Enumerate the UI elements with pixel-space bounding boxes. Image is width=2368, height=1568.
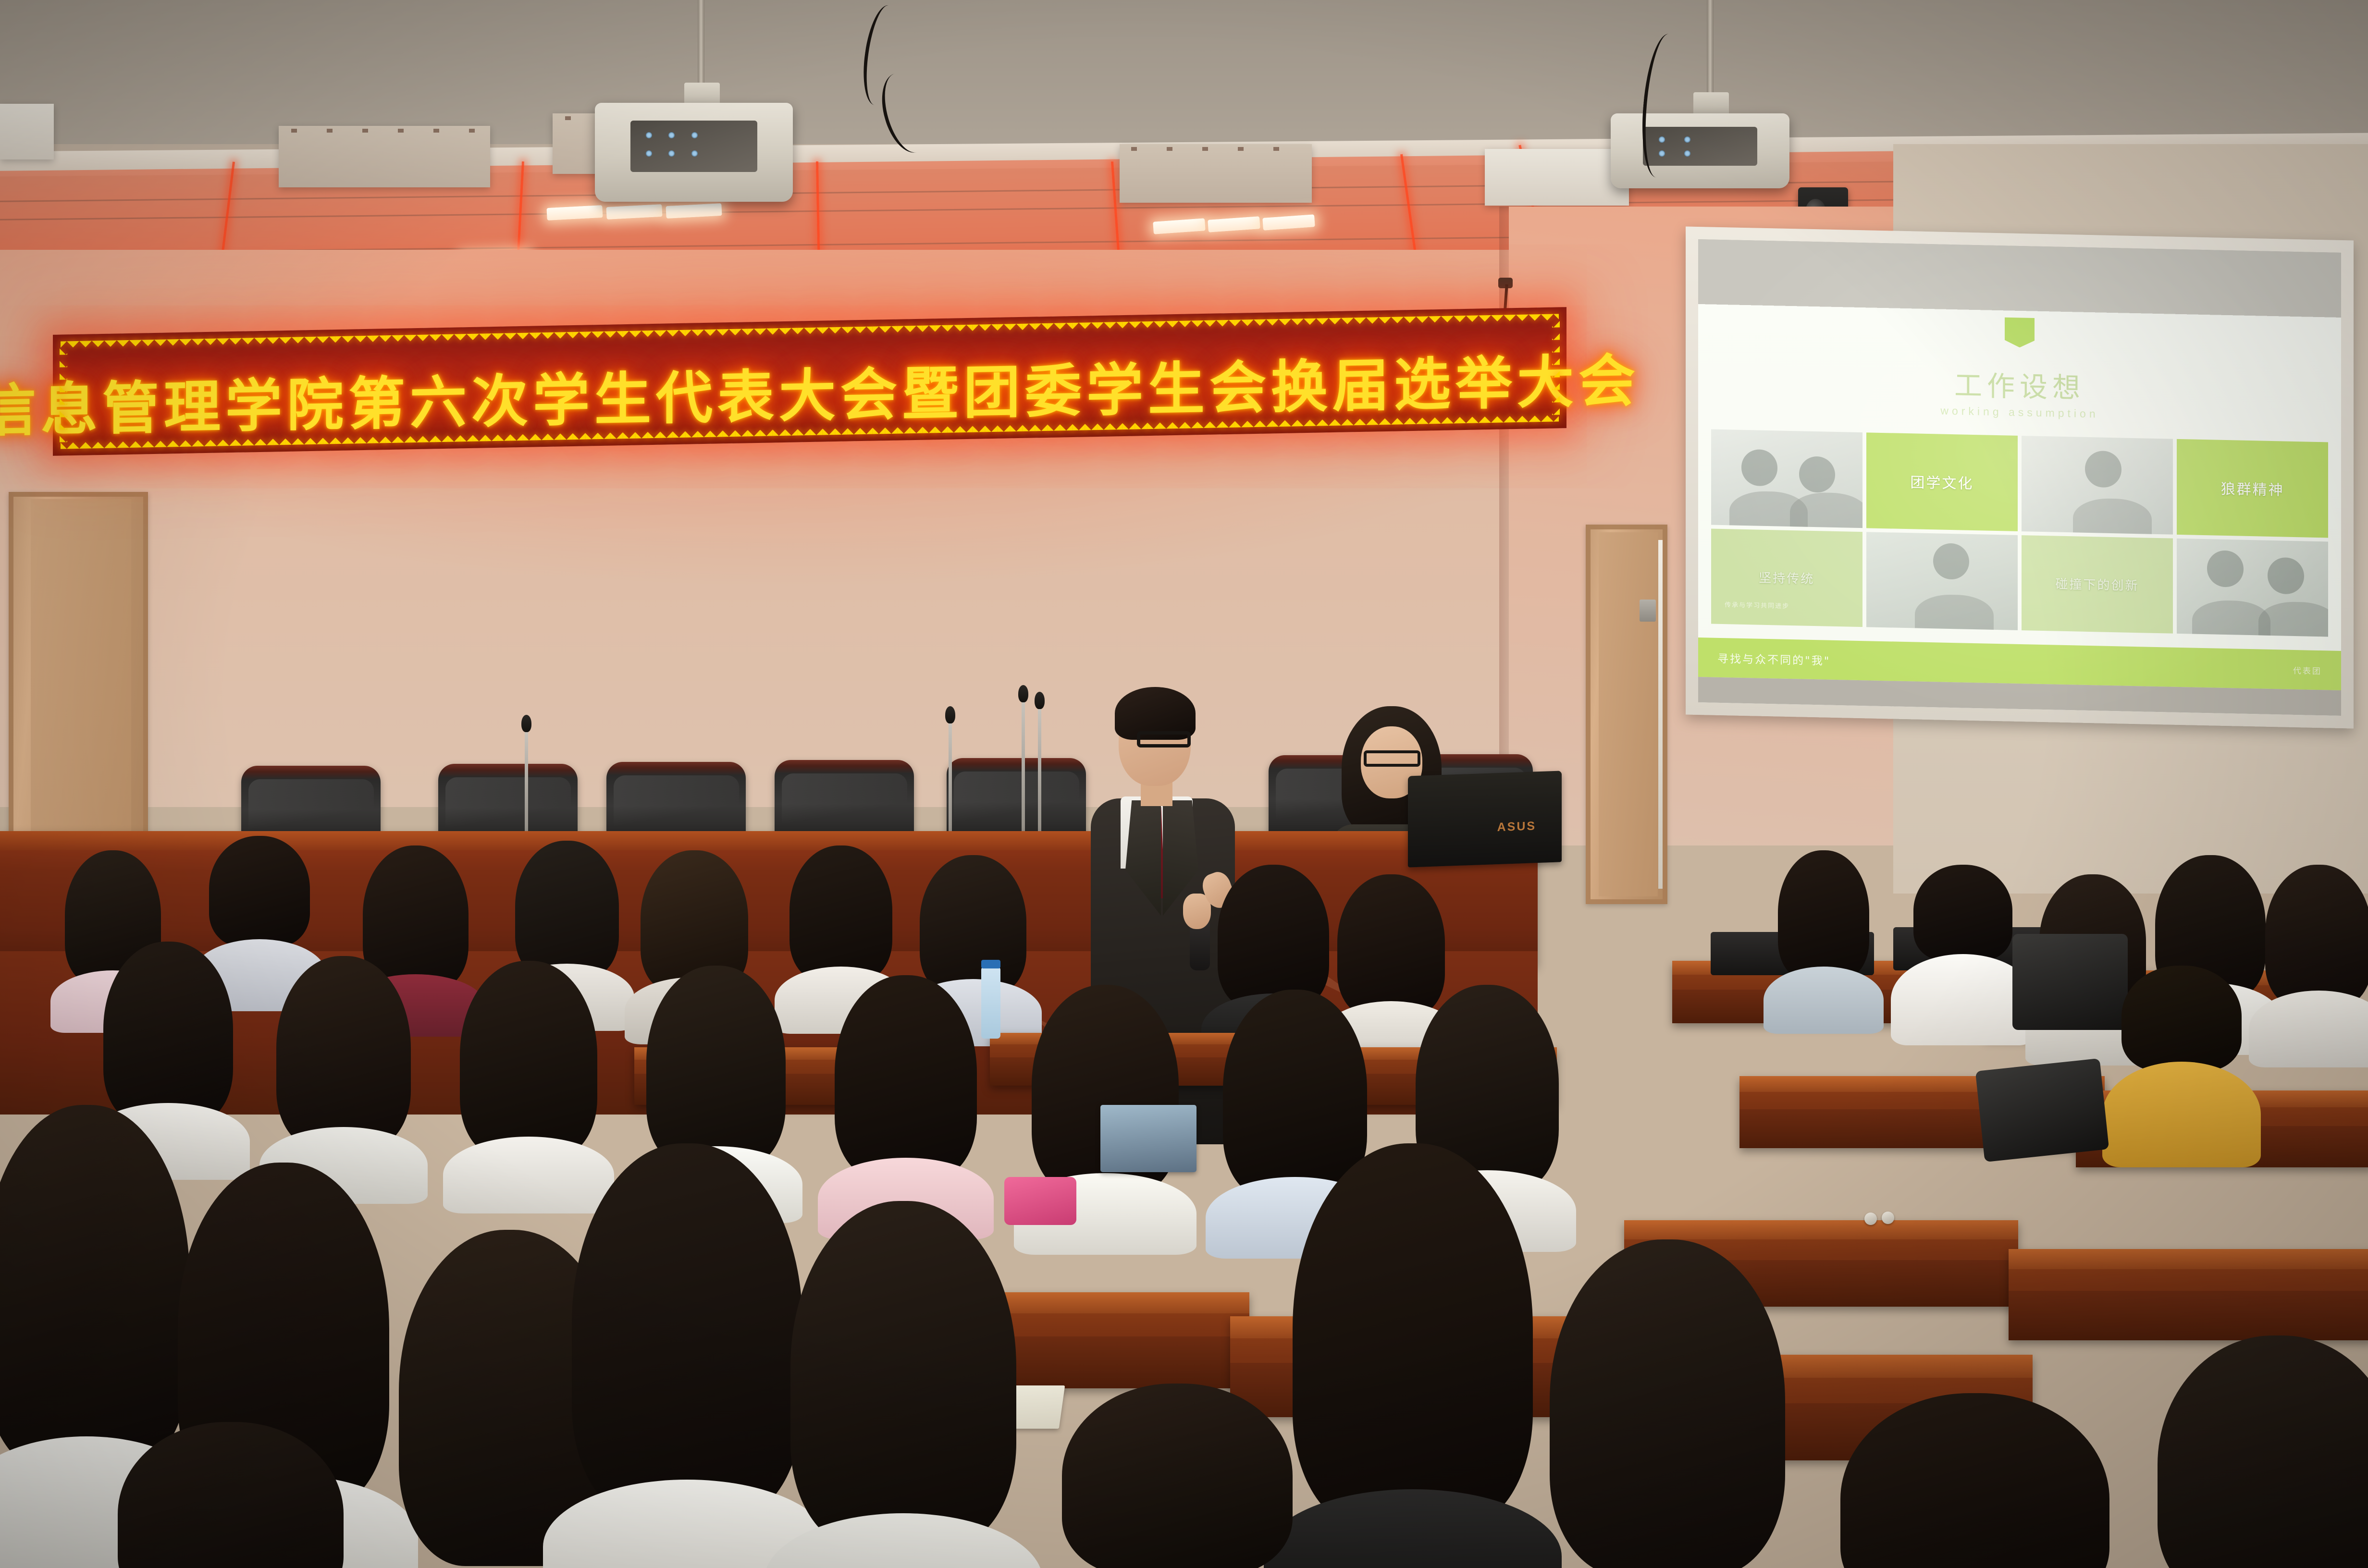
ceiling-projector	[1611, 113, 1789, 188]
audience-member	[1024, 985, 1187, 1206]
audience-member	[452, 961, 605, 1172]
slide-tile	[1866, 532, 2018, 630]
projector-mount-rod	[1707, 0, 1714, 100]
glasses-icon	[1364, 750, 1420, 767]
audience-member	[826, 975, 985, 1191]
door-panel	[1599, 532, 1657, 896]
audience-member	[1898, 865, 2028, 1038]
audience-member	[1278, 1143, 1547, 1568]
audience-member	[106, 1422, 356, 1568]
slide-footer-right: 代表团	[2293, 663, 2322, 676]
stage-chair	[947, 758, 1086, 843]
laptop-brand-label: ASUS	[1497, 819, 1536, 834]
slide-tile	[1711, 429, 1862, 528]
banner-border-right	[1552, 315, 1560, 420]
gooseneck-microphone	[525, 729, 528, 841]
microphone-capsule-icon	[1018, 685, 1028, 702]
door-hinge-icon	[1640, 600, 1656, 622]
audience-member	[778, 1201, 1028, 1568]
slide-ribbon-icon	[2005, 318, 2035, 348]
audience-member	[1826, 1393, 2124, 1568]
slide-tile: 狼群精神	[2177, 439, 2328, 538]
microphone-capsule-icon	[945, 706, 955, 723]
slide-tile-label: 狼群精神	[2221, 477, 2284, 500]
projector-mount-rod	[698, 0, 704, 89]
ceiling-speaker-panel	[1120, 144, 1312, 203]
lecture-hall-photograph: 信息管理学院第六次学生代表大会暨团委学生会换届选举大会 工作设想 working…	[0, 0, 2368, 1568]
ceiling-projector	[595, 103, 793, 202]
handbag	[1975, 1058, 2109, 1162]
ceiling-upper-slab	[0, 0, 2368, 144]
slide-tile: 坚持传统 传承与学习共同进步	[1711, 528, 1862, 627]
laptop[interactable]: ASUS	[1408, 771, 1562, 867]
projector-port-panel	[630, 121, 757, 172]
slide-tile-label: 碰撞下的创新	[2056, 575, 2139, 594]
tablet-screen[interactable]	[1100, 1105, 1196, 1172]
audience-member	[1768, 850, 1879, 1009]
slide-tile: 团学文化	[1866, 433, 2018, 531]
presentation-slide: 工作设想 working assumption 团学文化 狼群精神 坚持传统	[1698, 239, 2341, 716]
microphone-capsule-icon	[521, 715, 531, 732]
audience-member	[1048, 1384, 1307, 1568]
slide-tile-label: 坚持传统	[1759, 568, 1814, 587]
slide-footer-left: 寻找与众不同的"我"	[1717, 649, 1830, 668]
ceiling-speaker-panel	[0, 104, 54, 159]
audience-member	[2109, 966, 2254, 1158]
projection-screen: 工作设想 working assumption 团学文化 狼群精神 坚持传统	[1686, 226, 2354, 728]
slide-tile-grid: 团学文化 狼群精神 坚持传统 传承与学习共同进步 碰撞下的创新	[1711, 429, 2328, 637]
ceiling-speaker-panel	[1485, 149, 1629, 206]
glasses-icon	[1137, 731, 1191, 747]
gooseneck-microphone	[1022, 699, 1025, 840]
audience-member	[269, 956, 418, 1163]
audience-member	[2143, 1335, 2368, 1568]
audience-member	[2258, 865, 2368, 1038]
desk-knob	[1882, 1212, 1894, 1224]
door-right[interactable]	[1586, 525, 1667, 904]
gooseneck-microphone	[949, 721, 952, 841]
slide-tile: 碰撞下的创新	[2022, 535, 2173, 634]
microphone-capsule-icon	[1035, 692, 1045, 709]
projector-mount-bracket	[1693, 92, 1729, 116]
door-gap	[1658, 540, 1663, 889]
gooseneck-microphone	[1038, 706, 1041, 840]
desk-knob	[1864, 1213, 1877, 1225]
slide-tile-label: 团学文化	[1910, 471, 1973, 493]
audience-desk	[2009, 1249, 2368, 1340]
audience-member	[557, 1143, 817, 1568]
audience-member	[1538, 1239, 1797, 1568]
slide-tile	[2177, 539, 2328, 637]
banner-border-left	[60, 342, 67, 448]
slide-tile-sublabel: 传承与学习共同进步	[1725, 600, 1789, 611]
ceiling-speaker-panel	[279, 126, 490, 187]
slide-tile	[2022, 436, 2173, 534]
